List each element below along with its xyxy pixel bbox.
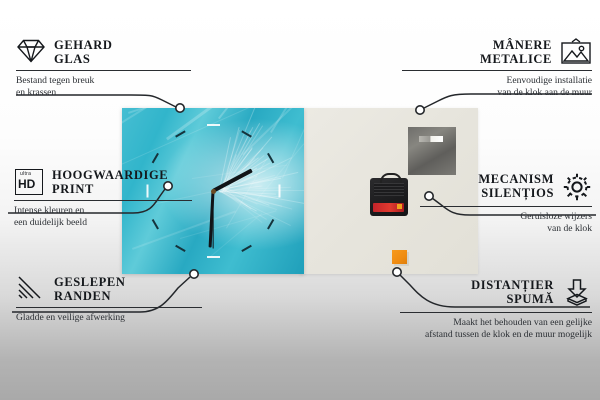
feature-title-line2: PRINT: [52, 182, 168, 196]
feature-title-line2: METALICE: [480, 52, 552, 66]
feature-desc-line2: van de klok aan de muur: [400, 87, 592, 99]
callout-hoogwaardige-print: ultra HD HOOGWAARDIGE PRINT Intense kleu…: [14, 168, 204, 228]
divider: [400, 312, 592, 313]
feature-title-line2: SPUMĂ: [471, 292, 554, 306]
feature-desc-line1: Bestand tegen breuk: [16, 75, 196, 87]
bevel-lines-icon: [16, 275, 46, 301]
callout-manere-metalice: MÂNERE METALICE Eenvoudige installatie v…: [400, 38, 592, 98]
divider: [402, 70, 592, 71]
diamond-icon: [16, 38, 46, 64]
callout-mecanism-silentios: MECANISM SILENȚIOS Geruisloze wijzers va…: [418, 172, 592, 234]
ultra-hd-icon: ultra HD: [14, 168, 44, 196]
feature-desc-line1: Eenvoudige installatie: [400, 75, 592, 87]
clock-movement-box: [370, 178, 408, 216]
feature-title-line2: SILENȚIOS: [478, 186, 554, 200]
feature-title-line1: GESLEPEN: [54, 275, 126, 289]
ultra-hd-bottom-label: HD: [18, 177, 35, 191]
feature-desc-line2: en krassen: [16, 87, 196, 99]
divider: [420, 206, 592, 207]
feature-desc-line2: een duidelijk beeld: [14, 217, 204, 229]
divider: [14, 200, 192, 201]
picture-frame-icon: [560, 38, 592, 66]
metal-hanger-plate: [408, 127, 456, 175]
feature-desc-line1: Maakt het behouden van een gelijke: [398, 317, 592, 329]
feature-desc-line2: van de klok: [418, 223, 592, 235]
feature-title-line1: DISTANȚIER: [471, 278, 554, 292]
callout-geslepen-randen: GESLEPEN RANDEN Gladde en veilige afwerk…: [16, 275, 206, 324]
gear-icon: [562, 172, 592, 202]
feature-desc-line1: Gladde en veilige afwerking: [16, 312, 206, 324]
callout-distantier-spuma: DISTANȚIER SPUMĂ Maakt het behouden van …: [398, 278, 592, 340]
feature-title-line1: HOOGWAARDIGE: [52, 168, 168, 182]
callout-gehard-glas: GEHARD GLAS Bestand tegen breuk en krass…: [16, 38, 196, 98]
infographic-canvas: GEHARD GLAS Bestand tegen breuk en krass…: [0, 0, 600, 400]
feature-desc-line1: Geruisloze wijzers: [418, 211, 592, 223]
down-arrow-pad-icon: [562, 278, 592, 308]
feature-title-line2: GLAS: [54, 52, 112, 66]
feature-desc-line2: afstand tussen de klok en de muur mogeli…: [398, 329, 592, 341]
feature-title-line1: MECANISM: [478, 172, 554, 186]
second-hand: [212, 191, 213, 249]
feature-desc-line1: Intense kleuren en: [14, 205, 204, 217]
divider: [16, 307, 202, 308]
foam-spacer: [392, 250, 407, 264]
feature-title-line1: GEHARD: [54, 38, 112, 52]
divider: [16, 70, 191, 71]
feature-title-line1: MÂNERE: [480, 38, 552, 52]
feature-title-line2: RANDEN: [54, 289, 126, 303]
clock-center-pin: [211, 189, 216, 194]
battery: [373, 203, 404, 212]
movement-grille: [374, 183, 404, 196]
